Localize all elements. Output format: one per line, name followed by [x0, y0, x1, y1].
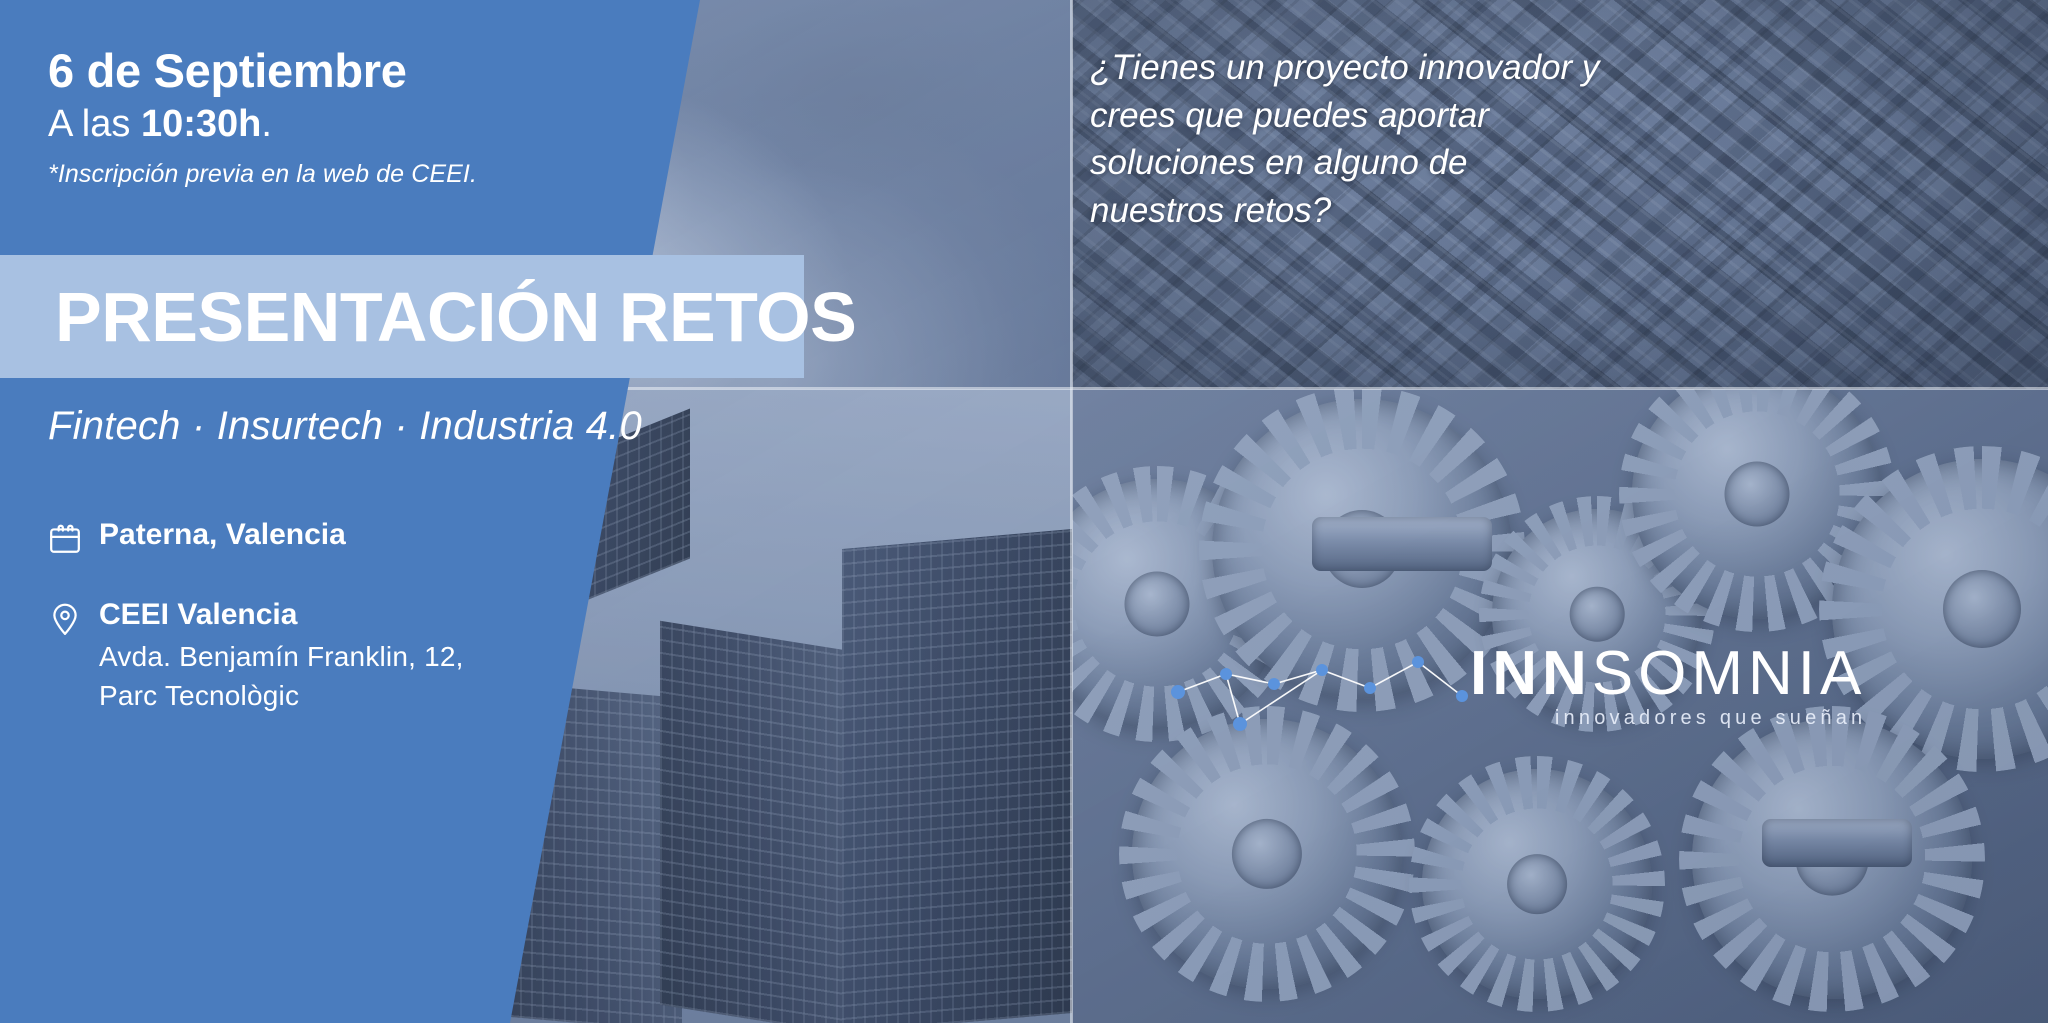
gear-icon	[1422, 769, 1652, 999]
time-prefix: A las	[48, 103, 141, 145]
event-date: 6 de Septiembre	[48, 44, 668, 99]
logo-name-bold: INN	[1470, 639, 1592, 708]
venue-info: Paterna, Valencia CEEI Valencia Avda. Be…	[48, 518, 464, 715]
event-poster: 6 de Septiembre A las 10:30h. *Inscripci…	[0, 0, 2048, 1023]
grid-divider-vertical	[1070, 0, 1073, 1023]
innsomnia-logo: INNSOMNIA innovadores que sueñan	[1470, 645, 1866, 727]
event-time: A las 10:30h.	[48, 101, 668, 149]
city-row: Paterna, Valencia	[48, 518, 464, 556]
headline-bar: PRESENTACIÓN RETOS	[0, 255, 804, 378]
logo-tagline: innovadores que sueñan	[1470, 709, 1866, 727]
shaft	[1762, 819, 1912, 867]
gear-icon	[1132, 719, 1402, 989]
city-label: Paterna, Valencia	[99, 518, 346, 551]
calendar-icon	[48, 522, 82, 556]
topics-line: Fintech · Insurtech · Industria 4.0	[48, 404, 642, 449]
logo-wordmark: INNSOMNIA innovadores que sueñan	[1470, 645, 1866, 727]
logo-name-light: SOMNIA	[1592, 639, 1867, 708]
address-line-1: Avda. Benjamín Franklin, 12,	[99, 638, 464, 677]
place-label: CEEI Valencia	[99, 598, 297, 631]
page-title: PRESENTACIÓN RETOS	[0, 282, 856, 352]
map-pin-icon	[48, 602, 82, 636]
constellation-graphic	[1170, 648, 1470, 738]
call-to-action-question: ¿Tienes un proyecto innovador y crees qu…	[1090, 44, 1610, 234]
time-value: 10:30h	[141, 103, 261, 145]
date-block: 6 de Septiembre A las 10:30h. *Inscripci…	[48, 44, 668, 189]
registration-note: *Inscripción previa en la web de CEEI.	[48, 160, 668, 189]
shaft	[1312, 517, 1492, 571]
building	[842, 529, 1072, 1023]
time-suffix: .	[261, 103, 272, 145]
place-row: CEEI Valencia Avda. Benjamín Franklin, 1…	[48, 598, 464, 715]
address-line-2: Parc Tecnològic	[99, 677, 464, 716]
